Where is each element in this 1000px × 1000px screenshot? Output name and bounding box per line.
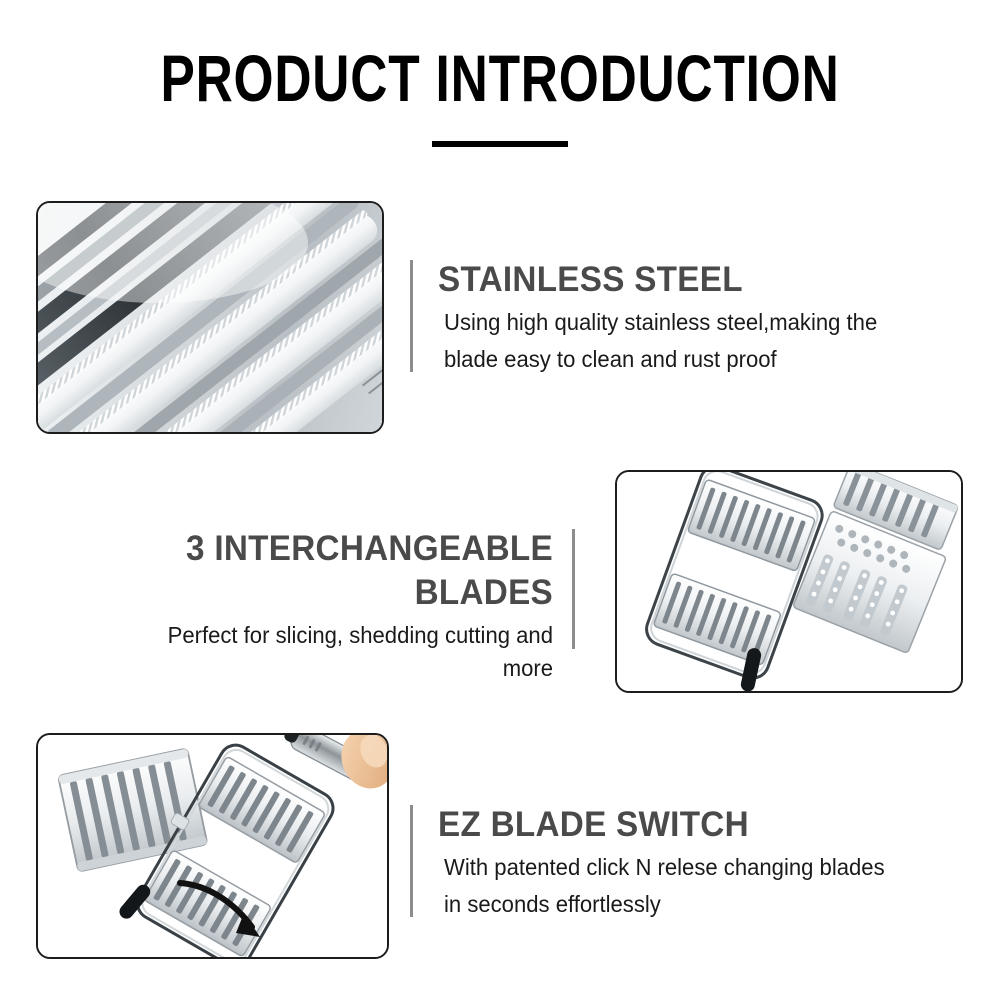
feature-heading-line-2: BLADES bbox=[132, 571, 553, 615]
page-title: PRODUCT INTRODUCTION bbox=[110, 42, 890, 114]
feature-heading: EZ BLADE SWITCH bbox=[438, 803, 886, 847]
blade-switch-photo bbox=[36, 733, 389, 959]
blade-closeup-photo bbox=[36, 201, 384, 434]
feature-body-line-1: Perfect for slicing, shedding cutting an… bbox=[128, 619, 553, 685]
feature-heading-line-1: 3 INTERCHANGEABLE bbox=[132, 527, 553, 571]
accent-bar bbox=[572, 529, 575, 649]
feature-interchangeable-blades: 3 INTERCHANGEABLE BLADES Perfect for sli… bbox=[110, 527, 575, 685]
feature-body-line-1: Using high quality stainless steel,makin… bbox=[444, 306, 891, 339]
title-underline-rule bbox=[432, 141, 568, 147]
feature-body-line-2: in seconds effortlessly bbox=[444, 888, 891, 921]
slicer-with-blades-photo bbox=[615, 470, 963, 693]
feature-heading: STAINLESS STEEL bbox=[438, 258, 886, 302]
feature-ez-blade-switch: EZ BLADE SWITCH With patented click N re… bbox=[410, 803, 910, 921]
accent-bar bbox=[410, 805, 413, 917]
feature-body-line-2: blade easy to clean and rust proof bbox=[444, 343, 891, 376]
feature-body-line-1: With patented click N relese changing bl… bbox=[444, 851, 891, 884]
accent-bar bbox=[410, 260, 413, 372]
feature-stainless-steel: STAINLESS STEEL Using high quality stain… bbox=[410, 258, 910, 376]
